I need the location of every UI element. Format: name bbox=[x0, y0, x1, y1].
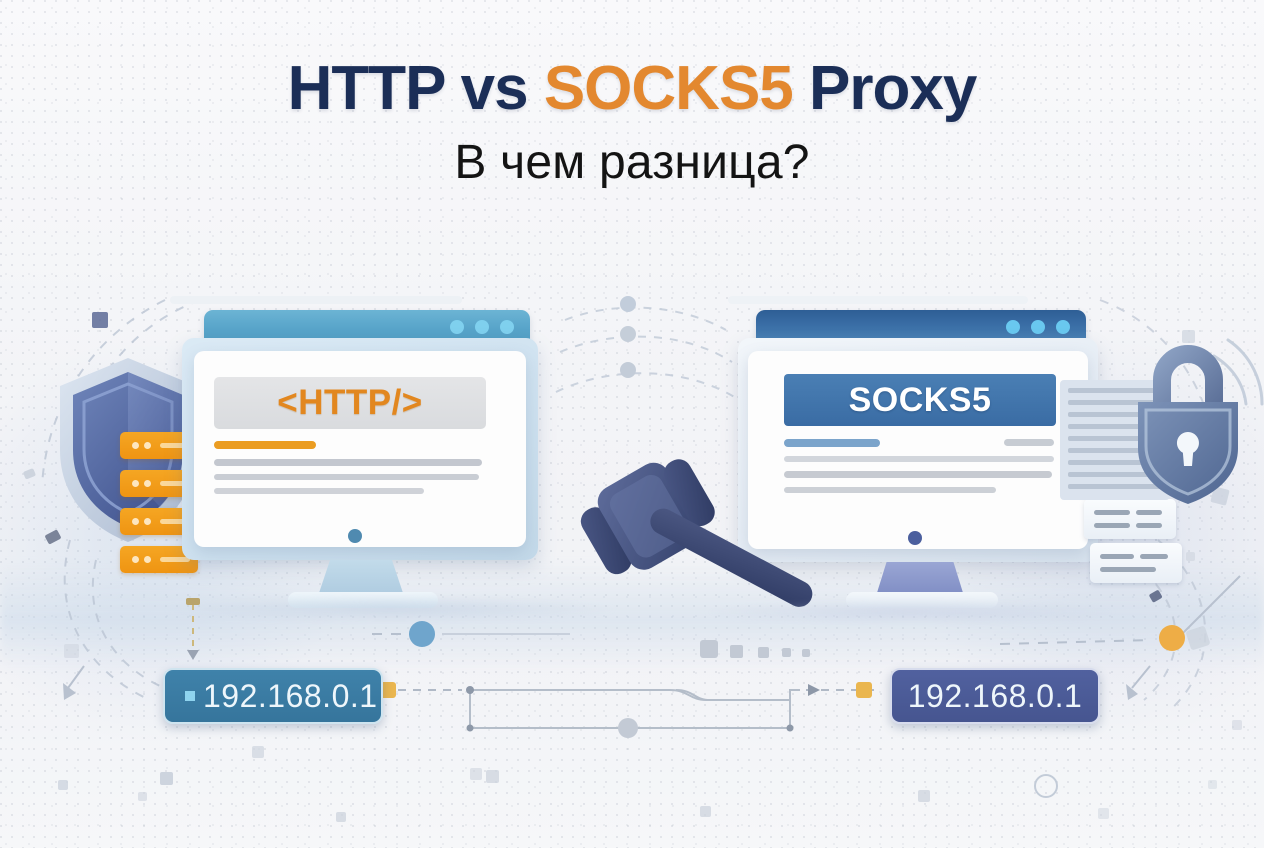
title-http: HTTP bbox=[288, 54, 445, 123]
document-card bbox=[1090, 543, 1182, 583]
padlock-icon bbox=[1128, 336, 1248, 508]
window-control-dots[interactable] bbox=[450, 320, 514, 334]
title-socks5: SOCKS5 bbox=[544, 54, 793, 123]
window-dot-3[interactable] bbox=[1056, 320, 1070, 334]
http-monitor: <HTTP/> bbox=[170, 296, 550, 608]
title-vs: vs bbox=[461, 54, 528, 123]
ip-badge-right[interactable]: 192.168.0.1 bbox=[890, 668, 1100, 724]
padlock-shackle bbox=[1162, 354, 1214, 408]
http-badge: <HTTP/> bbox=[214, 377, 486, 429]
monitor-power-indicator bbox=[348, 529, 362, 543]
reflection-left bbox=[160, 596, 620, 622]
address-bar[interactable] bbox=[728, 296, 1028, 304]
window-dot-2[interactable] bbox=[1031, 320, 1045, 334]
monitor-stand-neck bbox=[876, 562, 964, 596]
window-dot-3[interactable] bbox=[500, 320, 514, 334]
content-line bbox=[214, 459, 482, 466]
content-accent-bar-secondary bbox=[1004, 439, 1054, 446]
content-line bbox=[214, 488, 424, 494]
page-subtitle: В чем разница? bbox=[0, 135, 1264, 190]
socks5-badge: SOCKS5 bbox=[784, 374, 1056, 426]
window-dot-1[interactable] bbox=[1006, 320, 1020, 334]
reflection-right bbox=[700, 600, 1120, 624]
gavel-icon bbox=[572, 452, 842, 612]
address-bar[interactable] bbox=[170, 296, 462, 304]
ip-badge-right-label: 192.168.0.1 bbox=[908, 678, 1083, 715]
illustration-canvas: HTTP vs SOCKS5 Proxy В чем разница? bbox=[0, 0, 1264, 848]
socks5-badge-label: SOCKS5 bbox=[849, 381, 992, 420]
ip-badge-left-label: 192.168.0.1 bbox=[203, 678, 378, 715]
ip-marker-icon bbox=[185, 691, 195, 701]
window-control-dots[interactable] bbox=[1006, 320, 1070, 334]
heading-block: HTTP vs SOCKS5 Proxy В чем разница? bbox=[0, 56, 1264, 190]
title-proxy: Proxy bbox=[809, 54, 976, 123]
gavel-handle bbox=[646, 504, 817, 611]
window-dot-1[interactable] bbox=[450, 320, 464, 334]
content-accent-bar bbox=[214, 441, 316, 449]
monitor-power-indicator bbox=[908, 531, 922, 545]
page-title: HTTP vs SOCKS5 Proxy bbox=[0, 56, 1264, 121]
ip-badge-left[interactable]: 192.168.0.1 bbox=[163, 668, 383, 724]
content-accent-bar bbox=[784, 439, 880, 447]
monitor-stand-neck bbox=[318, 560, 404, 596]
content-line bbox=[214, 474, 479, 480]
window-dot-2[interactable] bbox=[475, 320, 489, 334]
http-badge-label: <HTTP/> bbox=[277, 383, 422, 423]
